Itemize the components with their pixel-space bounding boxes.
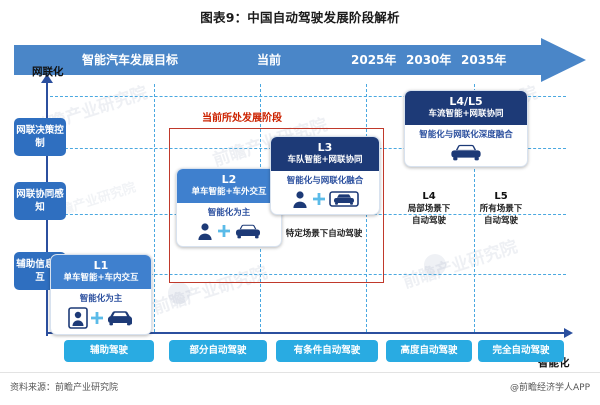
figure-root: 前瞻产业研究院 前瞻产业研究院 前瞻产业研究院 前瞻产业研究院 前瞻产业研究院 … — [0, 0, 600, 405]
level-name: L1 — [51, 259, 151, 272]
level-card-body: 智能化为主 — [51, 289, 151, 334]
banner-year-2025: 2025年 — [351, 45, 396, 75]
x-axis-arrowhead — [564, 328, 573, 338]
sublevel-desc-line2: 自动驾驶 — [394, 216, 464, 228]
level-card-header: L3 车队智能+网联协同 — [271, 137, 379, 171]
person-icon — [195, 221, 215, 241]
level-card-l3[interactable]: L3 车队智能+网联协同 智能化与网联化融合 — [270, 136, 380, 215]
level-icon-group — [177, 221, 281, 241]
sublevel-name: L5 — [466, 190, 536, 204]
stage-button-2[interactable]: 有条件自动驾驶 — [276, 340, 378, 362]
level-card-body: 智能化与网联化融合 — [271, 171, 379, 214]
level-card-header: L1 单车智能+车内交互 — [51, 255, 151, 289]
sublevel-l5: L5 所有场景下 自动驾驶 — [466, 190, 536, 227]
person-icon — [68, 307, 88, 329]
timeline-banner: 智能汽车发展目标 当前 2025年 2030年 2035年 — [14, 45, 586, 75]
level-card-l2[interactable]: L2 单车智能+车外交互 智能化为主 — [176, 168, 282, 247]
stage-label: 完全自动驾驶 — [492, 345, 549, 356]
car-icon — [328, 190, 360, 208]
level-icon-group — [405, 143, 527, 161]
level-subtitle: 单车智能+车内交互 — [51, 272, 151, 284]
level-desc: 智能化为主 — [177, 207, 281, 219]
sublevel-name: L4 — [394, 190, 464, 204]
brand-note: @前瞻经济学人APP — [510, 380, 590, 393]
level-name: L3 — [271, 141, 379, 154]
sublevel-desc-line1: 所有场景下 — [466, 204, 536, 216]
banner-arrowhead — [541, 38, 586, 82]
level-icon-group — [271, 189, 379, 209]
car-icon — [106, 310, 134, 326]
stage-label: 高度自动驾驶 — [400, 345, 457, 356]
sublevel-l4: L4 局部场景下 自动驾驶 — [394, 190, 464, 227]
level-desc: 智能化与网联化融合 — [271, 175, 379, 187]
level-card-l1[interactable]: L1 单车智能+车内交互 智能化为主 — [50, 254, 152, 335]
sublevel-desc-line2: 自动驾驶 — [466, 216, 536, 228]
v-gridline — [154, 84, 155, 332]
plus-icon — [313, 193, 325, 205]
stage-label: 部分自动驾驶 — [189, 345, 246, 356]
y-level-chip-1[interactable]: 网联协同感知 — [14, 182, 66, 220]
level-card-header: L2 单车智能+车外交互 — [177, 169, 281, 203]
car-icon — [449, 143, 483, 161]
plot-area: 网联化 智能化 网联决策控制 网联协同感知 辅助信息交互 当前所处发展阶段 L1… — [14, 78, 586, 336]
level-card-header: L4/L5 车流智能+网联协同 — [405, 91, 527, 125]
footer-divider — [0, 372, 600, 373]
level-card-body: 智能化为主 — [177, 203, 281, 246]
level-subtitle: 车流智能+网联协同 — [405, 108, 527, 120]
stage-button-0[interactable]: 辅助驾驶 — [64, 340, 154, 362]
car-icon — [233, 223, 263, 239]
banner-goal-label: 智能汽车发展目标 — [82, 45, 178, 75]
stage-button-1[interactable]: 部分自动驾驶 — [169, 340, 267, 362]
y-axis-label: 网联化 — [32, 64, 64, 79]
page-title: 图表9：中国自动驾驶发展阶段解析 — [0, 7, 600, 26]
y-level-label: 网联协同感知 — [16, 189, 64, 213]
stage-label: 有条件自动驾驶 — [294, 345, 361, 356]
sublevel-desc-line1: 局部场景下 — [394, 204, 464, 216]
level-card-body: 智能化与网联化深度融合 — [405, 125, 527, 166]
plus-icon — [218, 225, 230, 237]
plus-icon — [91, 312, 103, 324]
source-note: 资料来源：前瞻产业研究院 — [10, 380, 118, 393]
level-card-l3-caption: 特定场景下自动驾驶 — [270, 228, 378, 240]
stage-label: 辅助驾驶 — [90, 345, 128, 356]
banner-year-2030: 2030年 — [406, 45, 451, 75]
level-subtitle: 车队智能+网联协同 — [271, 154, 379, 166]
level-name: L4/L5 — [405, 95, 527, 108]
stage-button-3[interactable]: 高度自动驾驶 — [386, 340, 472, 362]
stage-button-row: 辅助驾驶 部分自动驾驶 有条件自动驾驶 高度自动驾驶 完全自动驾驶 — [14, 340, 586, 362]
current-stage-label: 当前所处发展阶段 — [202, 109, 282, 124]
y-level-label: 网联决策控制 — [16, 125, 64, 149]
level-desc: 智能化为主 — [51, 293, 151, 305]
level-icon-group — [51, 307, 151, 329]
level-subtitle: 单车智能+车外交互 — [177, 186, 281, 198]
banner-current-label: 当前 — [257, 45, 281, 75]
y-level-chip-0[interactable]: 网联决策控制 — [14, 118, 66, 156]
level-card-l4l5[interactable]: L4/L5 车流智能+网联协同 智能化与网联化深度融合 — [404, 90, 528, 167]
stage-button-4[interactable]: 完全自动驾驶 — [478, 340, 564, 362]
person-icon — [290, 189, 310, 209]
banner-year-2035: 2035年 — [461, 45, 506, 75]
level-name: L2 — [177, 173, 281, 186]
level-desc: 智能化与网联化深度融合 — [405, 129, 527, 141]
